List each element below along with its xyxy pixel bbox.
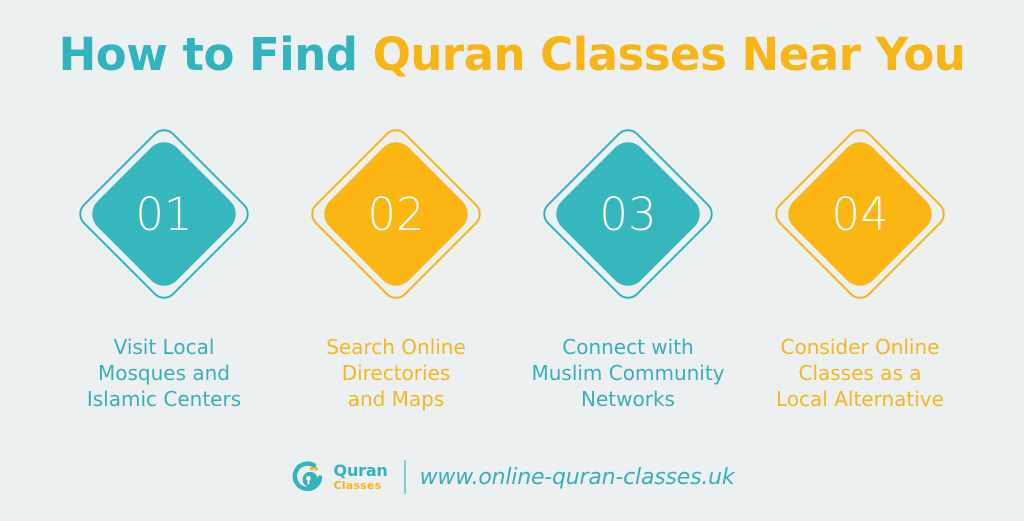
- brand-name-primary: Quran: [334, 463, 388, 480]
- step-item-01: 01 Visit Local Mosques and Islamic Cente…: [48, 108, 280, 412]
- step-caption-03: Connect with Muslim Community Networks: [531, 334, 724, 412]
- step-caption-04: Consider Online Classes as a Local Alter…: [776, 334, 944, 412]
- step-item-02: 02 Search Online Directories and Maps: [280, 108, 512, 412]
- steps-row: 01 Visit Local Mosques and Islamic Cente…: [48, 108, 976, 418]
- footer-divider: [404, 460, 406, 494]
- step-number-04: 04: [831, 192, 888, 237]
- page-title-amber-part: Quran Classes Near You: [373, 28, 966, 81]
- step-caption-02: Search Online Directories and Maps: [326, 334, 466, 412]
- step-number-01: 01: [135, 192, 192, 237]
- step-number-03: 03: [599, 192, 656, 237]
- step-diamond-01: 01: [64, 108, 264, 320]
- step-diamond-03: 03: [528, 108, 728, 320]
- step-number-02: 02: [367, 192, 424, 237]
- page-title-teal-part: How to Find: [59, 28, 373, 81]
- step-item-03: 03 Connect with Muslim Community Network…: [512, 108, 744, 412]
- footer-bar: Quran Classes www.online-quran-classes.u…: [0, 449, 1024, 505]
- brand-name-secondary: Classes: [334, 480, 382, 492]
- website-url[interactable]: www.online-quran-classes.uk: [420, 465, 735, 490]
- infographic-canvas: How to Find Quran Classes Near You 01 Vi…: [0, 0, 1024, 521]
- step-caption-01: Visit Local Mosques and Islamic Centers: [87, 334, 241, 412]
- step-diamond-04: 04: [760, 108, 960, 320]
- brand-wordmark: Quran Classes: [334, 463, 388, 491]
- quran-classes-logo-icon: [290, 458, 328, 496]
- step-item-04: 04 Consider Online Classes as a Local Al…: [744, 108, 976, 412]
- page-title: How to Find Quran Classes Near You: [0, 26, 1024, 84]
- brand-logo[interactable]: Quran Classes: [290, 458, 388, 496]
- step-diamond-02: 02: [296, 108, 496, 320]
